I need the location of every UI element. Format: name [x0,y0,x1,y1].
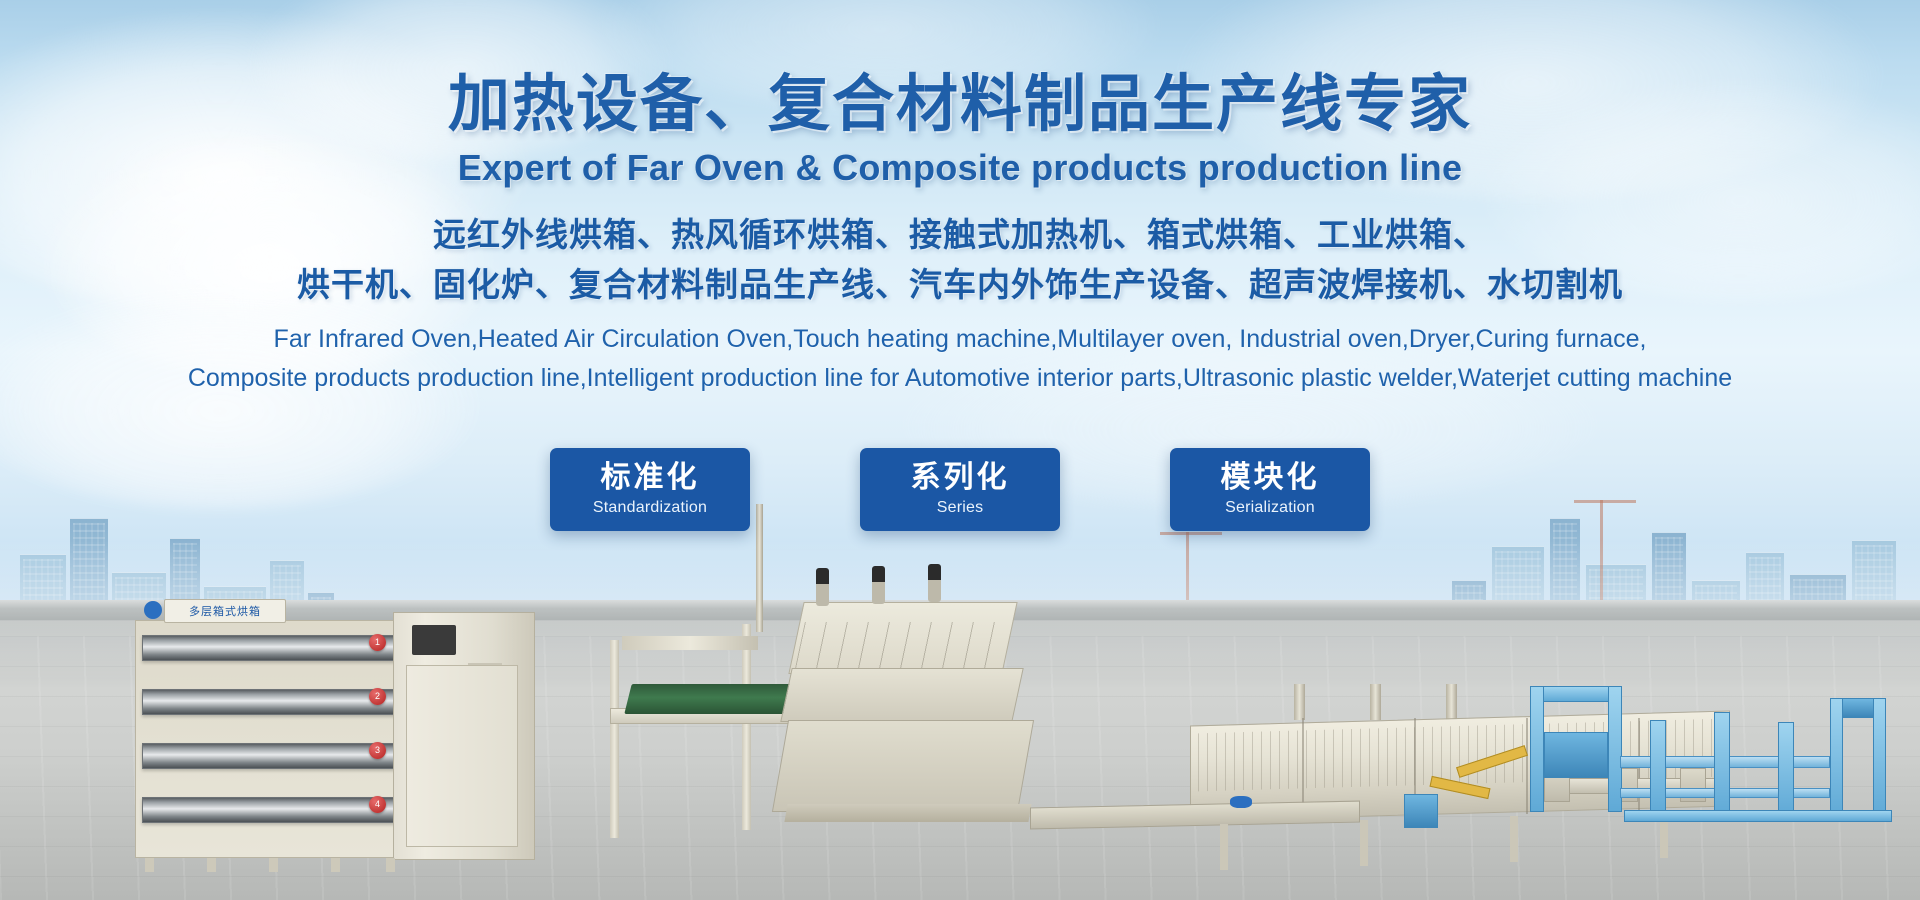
oven-tray [142,689,398,715]
oven-button[interactable]: 2 [369,688,386,705]
badge-label-en: Series [894,499,1026,517]
badge-label-en: Serialization [1204,499,1336,517]
robotic-production-cell [1500,660,1920,880]
oven-button-number: 4 [369,796,386,813]
headline-block: 加热设备、复合材料制品生产线专家 Expert of Far Oven & Co… [0,0,1920,397]
brand-logo-icon [1230,796,1252,808]
oven-button-number: 1 [369,634,386,651]
machine-label: 多层箱式烘箱 [164,599,286,623]
press-lower-head [780,668,1023,722]
oven-tray [142,635,398,661]
hydraulic-cylinder [872,566,885,604]
oven-button[interactable]: 4 [369,796,386,813]
hero-banner: 多层箱式烘箱 1 2 3 4 [0,0,1920,900]
press-roller [784,804,1031,822]
badge-label-en: Standardization [584,499,716,517]
multilayer-oven-machine: 多层箱式烘箱 1 2 3 4 [135,612,535,866]
press-base [772,720,1034,812]
oven-button-number: 3 [369,742,386,759]
oven-button-column: 1 2 3 4 [369,634,389,850]
exhaust-stack [1446,684,1457,720]
hydraulic-cylinder [816,568,829,606]
feature-badge-group: 标准化 Standardization 系列化 Series 模块化 Seria… [0,448,1920,531]
oven-control-cabinet [393,612,535,860]
badge-standardization[interactable]: 标准化 Standardization [550,448,750,531]
subtitle-en-line-2: Composite products production line,Intel… [0,360,1920,397]
cabinet-door [406,665,518,847]
subtitle-cn-line-1: 远红外线烘箱、热风循环烘箱、接触式加热机、箱式烘箱、工业烘箱、 [0,211,1920,259]
oven-button[interactable]: 3 [369,742,386,759]
badge-label-cn: 模块化 [1204,461,1336,496]
badge-serialization[interactable]: 模块化 Serialization [1170,448,1370,531]
badge-label-cn: 系列化 [894,461,1026,496]
oven-tray [142,797,398,823]
subtitle-cn-line-2: 烘干机、固化炉、复合材料制品生产线、汽车内外饰生产设备、超声波焊接机、水切割机 [0,261,1920,309]
page-title-cn: 加热设备、复合材料制品生产线专家 [0,72,1920,139]
brand-logo-icon [144,601,162,619]
oven-frame: 多层箱式烘箱 [135,620,403,858]
oven-button[interactable]: 1 [369,634,386,651]
exhaust-stack [1370,684,1381,720]
badge-label-cn: 标准化 [584,461,716,496]
oven-tray [142,743,398,769]
subtitle-en-line-1: Far Infrared Oven,Heated Air Circulation… [0,321,1920,358]
exhaust-stack [1294,684,1305,720]
oven-legs [145,858,395,872]
page-title-en: Expert of Far Oven & Composite products … [0,147,1920,189]
control-display [412,625,456,655]
badge-series[interactable]: 系列化 Series [860,448,1060,531]
press-head-grid [795,622,1011,668]
oven-button-number: 2 [369,688,386,705]
laminating-press-machine [610,580,1040,880]
hydraulic-cylinder [928,564,941,602]
